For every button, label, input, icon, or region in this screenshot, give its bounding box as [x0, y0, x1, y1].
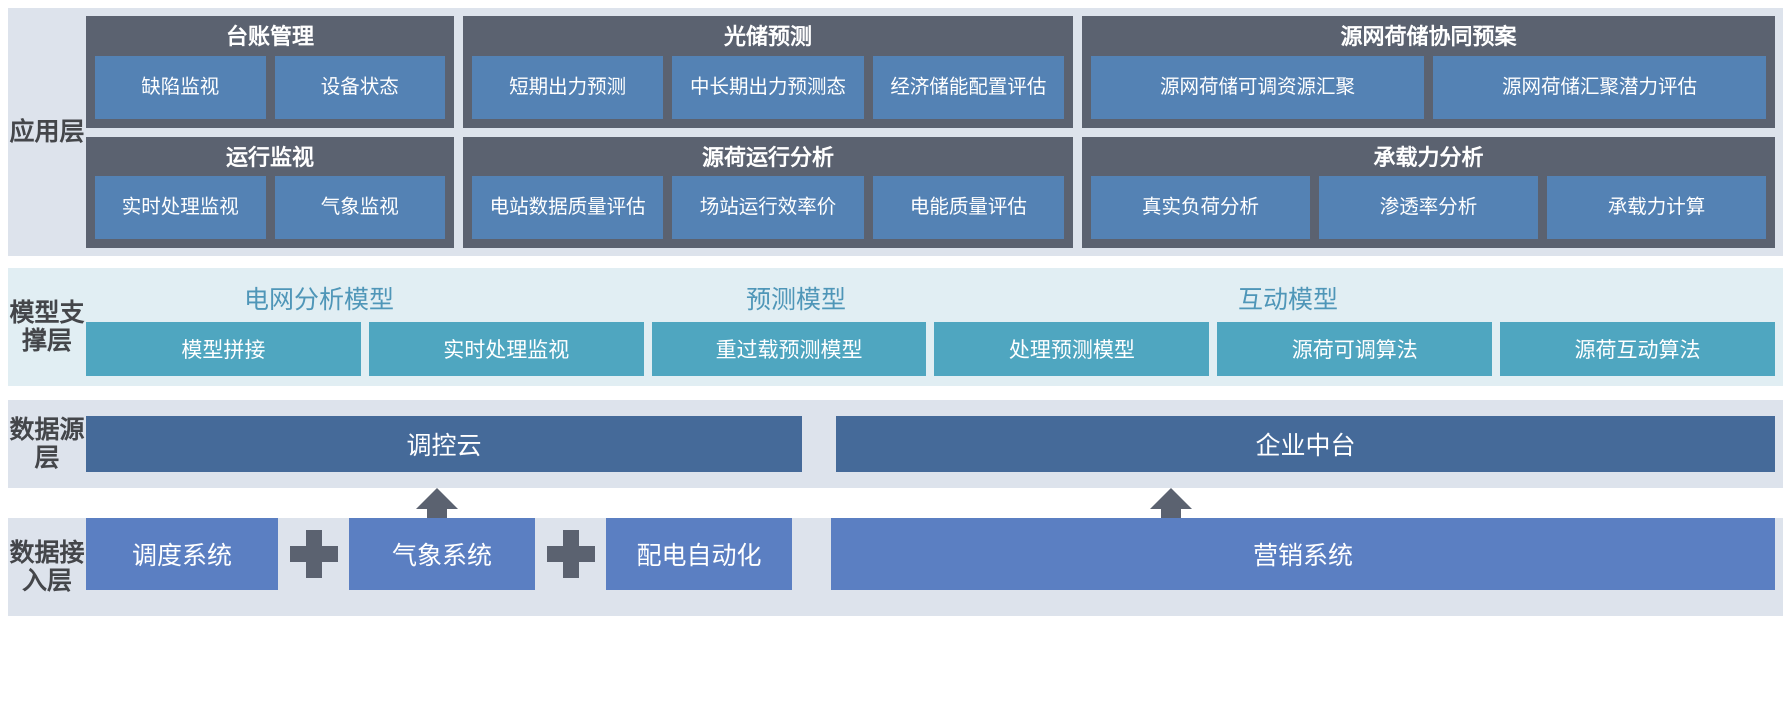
group-taizhang-guanli[interactable]: 台账管理 缺陷监视 设备状态 — [86, 16, 454, 128]
app-chip-keDiaoZiYuanHuiJu[interactable]: 源网荷储可调资源汇聚 — [1091, 56, 1424, 119]
app-chip-zhenShiFuHeFenXi[interactable]: 真实负荷分析 — [1091, 176, 1310, 239]
model-support-layer-label: 模型支撑层 — [8, 299, 86, 355]
model-chip-yuanHeHuDongSuanFa[interactable]: 源荷互动算法 — [1500, 322, 1775, 376]
group-yunxing-jianshi[interactable]: 运行监视 实时处理监视 气象监视 — [86, 137, 454, 249]
data-source-layer-label: 数据源层 — [8, 416, 86, 472]
application-layer: 应用层 台账管理 缺陷监视 设备状态 光储预测 短期出力预 — [8, 8, 1783, 256]
data-source-layer: 数据源层 调控云 企业中台 — [8, 400, 1783, 488]
model-category-hudong: 互动模型 — [1238, 280, 1338, 316]
source-chip-qiYeZhongTai[interactable]: 企业中台 — [836, 416, 1775, 472]
access-chip-peiDianZiDongHua[interactable]: 配电自动化 — [606, 518, 792, 590]
model-chip-yuanHeKeDiaoSuanFa[interactable]: 源荷可调算法 — [1217, 322, 1492, 376]
group-title: 源荷运行分析 — [472, 143, 1064, 173]
model-chip-zhongGuoZaiYuCeMoXing[interactable]: 重过载预测模型 — [652, 322, 927, 376]
architecture-diagram: 应用层 台账管理 缺陷监视 设备状态 光储预测 短期出力预 — [0, 0, 1791, 716]
app-chip-shenTouLvFenXi[interactable]: 渗透率分析 — [1319, 176, 1538, 239]
access-chip-yingXiaoXiTong[interactable]: 营销系统 — [831, 518, 1775, 590]
model-category-yuce: 预测模型 — [746, 280, 846, 316]
app-chip-queXianJianShi[interactable]: 缺陷监视 — [95, 56, 266, 119]
model-category-dianwang: 电网分析模型 — [244, 280, 394, 316]
data-source-layer-body: 调控云 企业中台 — [86, 400, 1783, 488]
application-row-2: 运行监视 实时处理监视 气象监视 源荷运行分析 电站数据质量评估 场站运行效率价… — [86, 137, 1775, 249]
data-access-layer: 数据接入层 调度系统 气象系统 配电自动化 营销系统 — [8, 518, 1783, 616]
group-title: 台账管理 — [95, 22, 445, 52]
app-chip-qiXiangJianShi[interactable]: 气象监视 — [275, 176, 446, 239]
group-title: 源网荷储协同预案 — [1091, 22, 1766, 52]
group-guangchu-yuce[interactable]: 光储预测 短期出力预测 中长期出力预测态 经济储能配置评估 — [463, 16, 1073, 128]
app-chip-sheBeiZhuangTai[interactable]: 设备状态 — [275, 56, 446, 119]
app-chip-chengZaiLiJiSuan[interactable]: 承载力计算 — [1547, 176, 1766, 239]
access-chip-qiXiangXiTong[interactable]: 气象系统 — [349, 518, 535, 590]
app-chip-dianNengZhiLiangPingGu[interactable]: 电能质量评估 — [873, 176, 1064, 239]
group-chengzaili-fenxi[interactable]: 承载力分析 真实负荷分析 渗透率分析 承载力计算 — [1082, 137, 1775, 249]
plus-icon — [278, 518, 349, 590]
model-support-layer-body: 电网分析模型 预测模型 互动模型 模型拼接 实时处理监视 重过载预测模型 处理预… — [86, 268, 1783, 386]
group-title: 承载力分析 — [1091, 143, 1766, 173]
app-chip-changZhanYunXingXiaoLvJia[interactable]: 场站运行效率价 — [672, 176, 863, 239]
group-title: 运行监视 — [95, 143, 445, 173]
access-chip-diaoDuXiTong[interactable]: 调度系统 — [86, 518, 278, 590]
model-chip-chuLiYuCeMoXing[interactable]: 处理预测模型 — [934, 322, 1209, 376]
data-access-layer-body: 调度系统 气象系统 配电自动化 营销系统 — [86, 518, 1783, 616]
plus-icon — [535, 518, 606, 590]
model-support-layer: 模型支撑层 电网分析模型 预测模型 互动模型 模型拼接 实时处理监视 重过载预测… — [8, 268, 1783, 386]
app-chip-dianZhanShuJuZhiLiangPingGu[interactable]: 电站数据质量评估 — [472, 176, 663, 239]
application-layer-body: 台账管理 缺陷监视 设备状态 光储预测 短期出力预测 中长期出力预测态 经济储能… — [86, 8, 1783, 256]
application-layer-label: 应用层 — [8, 118, 86, 146]
app-chip-shiShiChuLiJianShi[interactable]: 实时处理监视 — [95, 176, 266, 239]
group-yuanhe-yunxing-fenxi[interactable]: 源荷运行分析 电站数据质量评估 场站运行效率价 电能质量评估 — [463, 137, 1073, 249]
app-chip-huiJuQianLiPingGu[interactable]: 源网荷储汇聚潜力评估 — [1433, 56, 1766, 119]
model-category-row: 电网分析模型 预测模型 互动模型 — [86, 276, 1775, 322]
application-row-1: 台账管理 缺陷监视 设备状态 光储预测 短期出力预测 中长期出力预测态 经济储能… — [86, 16, 1775, 128]
app-chip-zhongChangQiChuLiYuCe[interactable]: 中长期出力预测态 — [672, 56, 863, 119]
app-chip-duanQiChuLiYuCe[interactable]: 短期出力预测 — [472, 56, 663, 119]
source-chip-diaoKongYun[interactable]: 调控云 — [86, 416, 802, 472]
data-access-layer-label: 数据接入层 — [8, 539, 86, 595]
group-yuanwanghechu-xietong-yuan[interactable]: 源网荷储协同预案 源网荷储可调资源汇聚 源网荷储汇聚潜力评估 — [1082, 16, 1775, 128]
group-title: 光储预测 — [472, 22, 1064, 52]
model-chip-shiShiChuLiJianShi[interactable]: 实时处理监视 — [369, 322, 644, 376]
app-chip-jingJiChuNengPeiZhiPingGu[interactable]: 经济储能配置评估 — [873, 56, 1064, 119]
model-chip-moXingPinJie[interactable]: 模型拼接 — [86, 322, 361, 376]
